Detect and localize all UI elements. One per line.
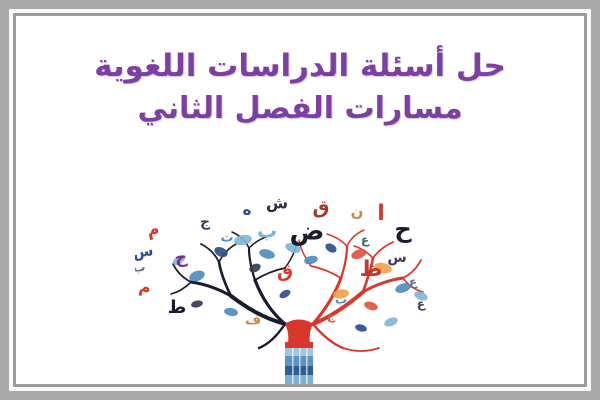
tree-letter: ب [335,293,347,307]
tree-letter: ج [327,309,336,323]
tree-letter: ق [277,261,293,282]
tree-letter: ظ [360,257,383,282]
tree-letter: ح [174,247,189,268]
tree-letter: ح [394,215,412,243]
arabic-letter-tree-illustration: مسبمطحجتهشبفقضناعحقظسععبج [135,196,465,384]
tree-letters: مسبمطحجتهشبفقضناعحقظسععبج [135,196,426,328]
tree-letter: ب [135,261,146,276]
tree-letter: ت [220,231,233,246]
tree-letter: ع [417,297,426,311]
tree-letter: ف [245,312,261,328]
tree-letter: م [145,219,162,241]
tree-letter: ط [168,297,187,318]
tree-foliage [171,234,429,333]
poster-frame-outer: حل أسئلة الدراسات اللغوية مسارات الفصل ا… [0,0,600,400]
pencil [285,348,313,384]
tree-letter: س [387,250,406,266]
tree-left-branches [171,232,297,348]
poster-frame-gap: حل أسئلة الدراسات اللغوية مسارات الفصل ا… [9,9,591,391]
poster-frame-inner-line: حل أسئلة الدراسات اللغوية مسارات الفصل ا… [13,13,587,387]
tree-letter: ا [377,201,385,226]
title-line-1: حل أسئلة الدراسات اللغوية [16,48,584,86]
tree-letter: ج [200,214,211,230]
poster-canvas: حل أسئلة الدراسات اللغوية مسارات الفصل ا… [16,16,584,384]
tree-letter: ق [313,197,330,219]
tree-letter: ه [243,201,252,219]
tree-trunk [285,320,313,353]
tree-letter: ع [361,233,370,247]
tree-letter: ب [257,219,277,243]
tree-letter: ش [266,196,288,213]
tree-letter: ن [351,203,364,221]
tree-letter: ض [290,217,325,247]
page-title: حل أسئلة الدراسات اللغوية مسارات الفصل ا… [16,48,584,127]
tree-letter: ع [409,275,418,289]
title-line-2: مسارات الفصل الثاني [16,91,584,128]
tree-letter: م [138,277,153,298]
letter-tree-svg: مسبمطحجتهشبفقضناعحقظسععبج [135,196,465,384]
tree-letter: س [135,241,154,262]
